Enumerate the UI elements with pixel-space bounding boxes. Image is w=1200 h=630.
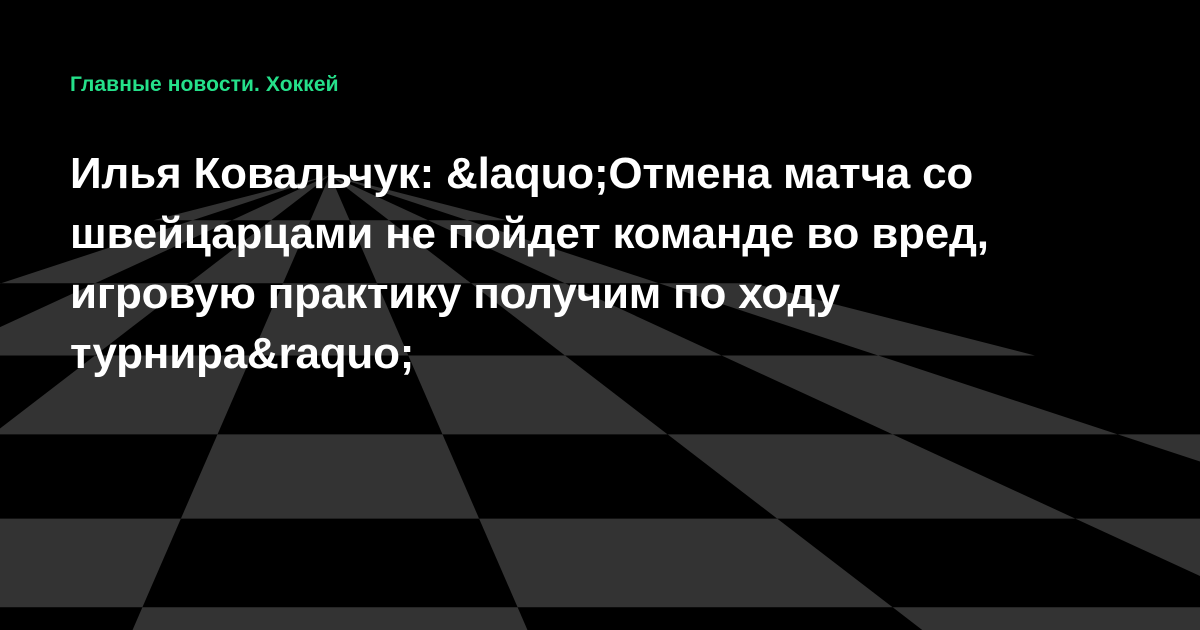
headline-title: Илья Ковальчук: &laquo;Отмена матча со ш… xyxy=(70,144,1130,384)
card-content: Главные новости. Хоккей Илья Ковальчук: … xyxy=(0,0,1200,384)
floor-tile xyxy=(1075,519,1200,608)
category-kicker: Главные новости. Хоккей xyxy=(70,72,1130,98)
floor-tile xyxy=(893,607,1200,630)
floor-tile xyxy=(102,607,558,630)
floor-tile xyxy=(1118,434,1200,518)
floor-tile xyxy=(0,519,181,608)
floor-tile xyxy=(668,434,1076,518)
floor-tile xyxy=(181,434,479,518)
news-preview-card: Главные новости. Хоккей Илья Ковальчук: … xyxy=(0,0,1200,630)
floor-tile xyxy=(479,519,893,608)
